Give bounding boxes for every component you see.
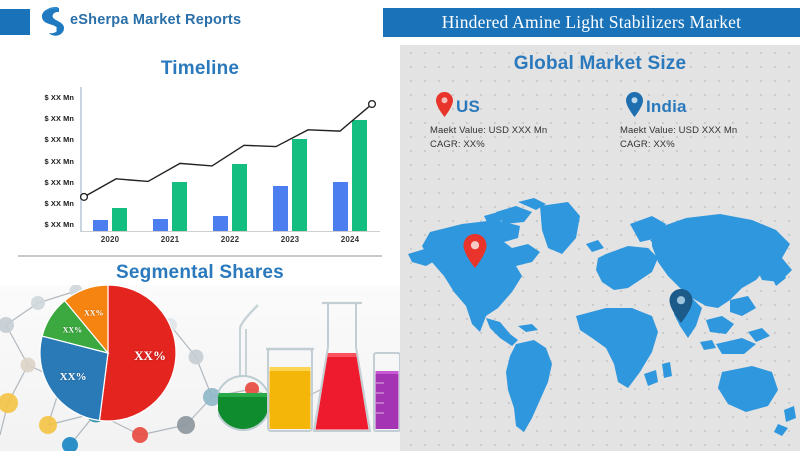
x-tick-label: 2024: [341, 235, 360, 244]
y-tick-label: $ XX Mn: [45, 178, 74, 187]
timeline-section-title: Timeline: [0, 58, 400, 80]
y-tick-label: $ XX Mn: [45, 93, 74, 102]
timeline-x-axis-labels: 20202021202220232024: [80, 235, 380, 249]
y-tick-label: $ XX Mn: [45, 157, 74, 166]
timeline-chart: $ XX Mn$ XX Mn$ XX Mn$ XX Mn$ XX Mn$ XX …: [0, 87, 400, 252]
world-map-icon: [400, 196, 800, 451]
pie-slice-label-0: XX%: [134, 348, 166, 364]
segmental-shares-area: XX%XX%XX%XX%: [0, 285, 400, 451]
y-tick-label: $ XX Mn: [45, 114, 74, 123]
timeline-y-axis-labels: $ XX Mn$ XX Mn$ XX Mn$ XX Mn$ XX Mn$ XX …: [12, 87, 74, 232]
y-tick-label: $ XX Mn: [45, 135, 74, 144]
global-market-size-title: Global Market Size: [400, 53, 800, 75]
timeline-trend-line: [80, 87, 380, 232]
map-pin-icon: [626, 92, 643, 122]
left-panel: Timeline $ XX Mn$ XX Mn$ XX Mn$ XX Mn$ X…: [0, 45, 400, 451]
region-header-india: India: [608, 92, 800, 122]
x-tick-label: 2021: [161, 235, 180, 244]
header: eSherpa Market Reports Hindered Amine Li…: [0, 0, 800, 45]
region-market-value-us: Maekt Value: USD XXX Mn: [418, 125, 618, 136]
pie-slice-label-1: XX%: [60, 371, 87, 383]
esherpa-s-logo-icon: [33, 4, 73, 42]
segmental-section-title: Segmental Shares: [0, 262, 400, 284]
y-tick-label: $ XX Mn: [45, 220, 74, 229]
infographic-root: eSherpa Market Reports Hindered Amine Li…: [0, 0, 800, 451]
x-tick-label: 2023: [281, 235, 300, 244]
brand-name: eSherpa Market Reports: [70, 12, 241, 28]
segmental-pie-chart: XX%XX%XX%XX%: [38, 285, 178, 427]
x-tick-label: 2020: [101, 235, 120, 244]
timeline-plot-area: [80, 87, 380, 232]
region-name-us: US: [456, 97, 480, 117]
x-tick-label: 2022: [221, 235, 240, 244]
region-card-us: US Maekt Value: USD XXX Mn CAGR: XX%: [418, 92, 618, 150]
map-pin-icon: [436, 92, 453, 122]
report-title-banner: Hindered Amine Light Stabilizers Market: [383, 8, 800, 37]
section-divider: [18, 255, 382, 257]
header-accent-block: [0, 9, 30, 35]
page-title: Hindered Amine Light Stabilizers Market: [442, 12, 741, 33]
pie-slice-label-3: XX%: [84, 309, 104, 318]
region-cagr-us: CAGR: XX%: [418, 139, 618, 150]
lab-glassware-icon: [218, 291, 400, 451]
pie-slice-label-2: XX%: [63, 326, 83, 335]
y-tick-label: $ XX Mn: [45, 199, 74, 208]
right-panel: Global Market Size US Maekt Value: USD X…: [400, 0, 800, 451]
region-cagr-india: CAGR: XX%: [608, 139, 800, 150]
region-card-india: India Maekt Value: USD XXX Mn CAGR: XX%: [608, 92, 800, 150]
region-header-us: US: [418, 92, 618, 122]
region-name-india: India: [646, 97, 687, 117]
region-market-value-india: Maekt Value: USD XXX Mn: [608, 125, 800, 136]
